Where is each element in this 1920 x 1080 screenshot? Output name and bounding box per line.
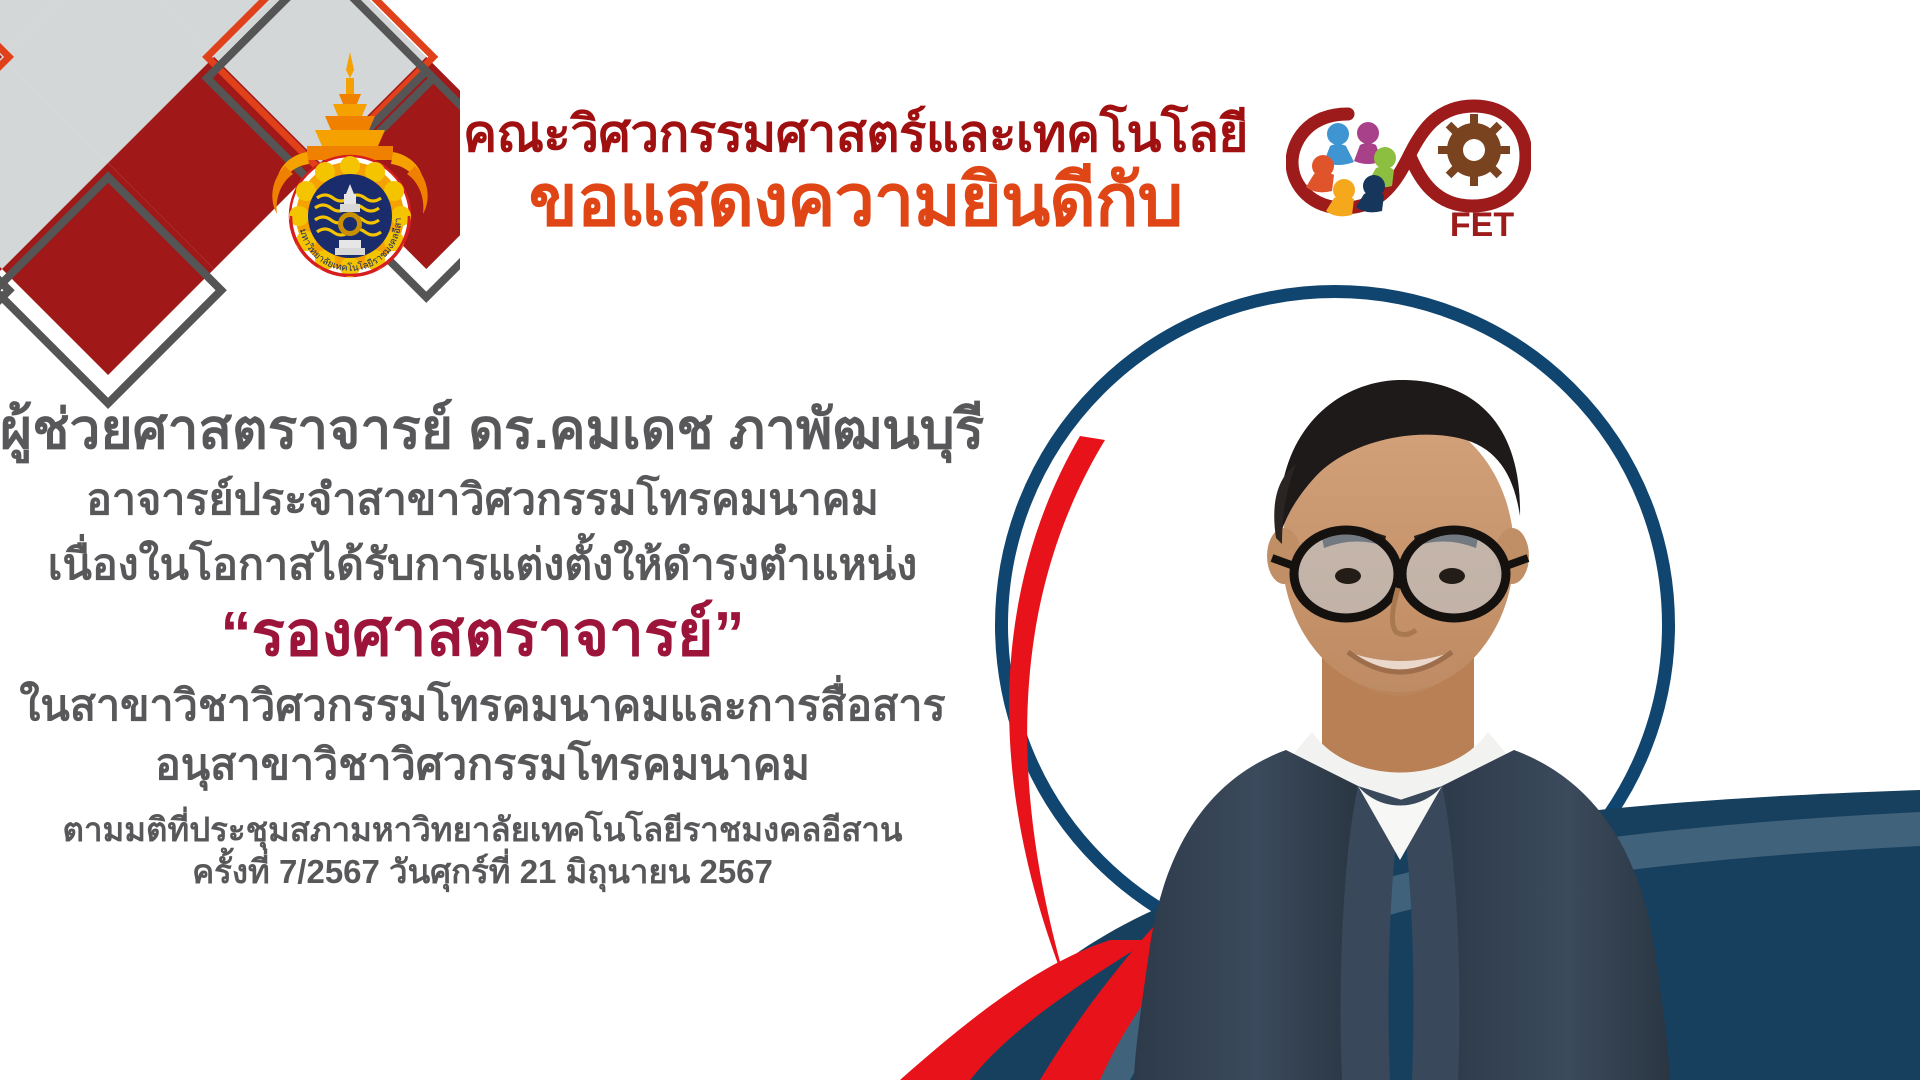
council-resolution: ตามมติที่ประชุมสภามหาวิทยาลัยเทคโนโลยีรา… — [0, 812, 965, 848]
appointment-occasion: เนื่องในโอกาสได้รับการแต่งตั้งให้ดำรงตำแ… — [0, 542, 965, 588]
new-academic-title: “รองศาสตราจารย์” — [0, 602, 965, 669]
academic-field: ในสาขาวิชาวิศวกรรมโทรคมนาคมและการสื่อสาร — [0, 683, 965, 729]
meeting-reference: ครั้งที่ 7/2567 วันศุกร์ที่ 21 มิถุนายน … — [0, 854, 965, 890]
congratulations-banner: มหาวิทยาลัยเทคโนโลยีราชมงคลอีสาน คณะวิศว… — [0, 0, 1920, 1080]
academic-subfield: อนุสาขาวิชาวิศวกรรมโทรคมนาคม — [0, 742, 965, 788]
honoree-role: อาจารย์ประจำสาขาวิศวกรรมโทรคมนาคม — [0, 477, 965, 523]
honoree-portrait — [1090, 300, 1710, 1080]
portrait-composition — [900, 0, 1920, 1080]
honoree-details: ผู้ช่วยศาสตราจารย์ ดร.คมเดช ภาพัฒนบุรี อ… — [0, 400, 965, 889]
rmuti-university-emblem-icon: มหาวิทยาลัยเทคโนโลยีราชมงคลอีสาน — [255, 48, 445, 283]
honoree-name: ผู้ช่วยศาสตราจารย์ ดร.คมเดช ภาพัฒนบุรี — [0, 400, 965, 459]
